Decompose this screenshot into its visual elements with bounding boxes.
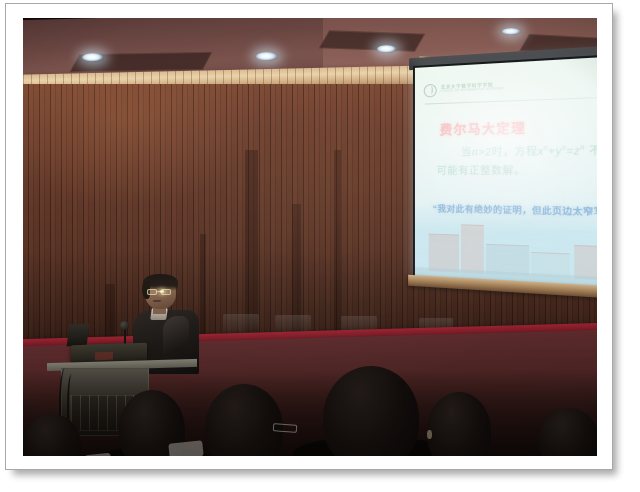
audience-highlight bbox=[427, 430, 432, 439]
eq-prefix: 当 bbox=[461, 147, 472, 158]
glasses-lens-left bbox=[147, 289, 157, 295]
audience-chair bbox=[223, 314, 259, 334]
presenter-mouth bbox=[153, 300, 161, 302]
eq-plus: + bbox=[548, 146, 555, 158]
glasses-glint bbox=[160, 290, 164, 293]
eq-equals: = bbox=[567, 146, 574, 158]
ceiling-light-icon bbox=[502, 28, 521, 35]
laptop-label bbox=[95, 352, 113, 361]
campus-building bbox=[429, 234, 459, 273]
audience-glasses-icon bbox=[273, 423, 297, 433]
university-emblem-icon bbox=[424, 83, 437, 97]
presenter-shoulder-highlight bbox=[163, 316, 189, 360]
slide-logo-en: SCHOOL OF MATHEMATICAL SCIENCES bbox=[441, 88, 504, 94]
audience-collar bbox=[168, 440, 203, 456]
projection-screen: 北京大学数学科学学院 SCHOOL OF MATHEMATICAL SCIENC… bbox=[413, 52, 597, 291]
slide-body-line-2: 可能有正整数解。 bbox=[437, 161, 526, 177]
ceiling-light-icon bbox=[377, 45, 397, 53]
ceiling-vent bbox=[319, 30, 425, 51]
slide-equation-line: 当n>2时，方程xn+yn=zn 不 bbox=[461, 141, 597, 159]
photo-frame: 北京大学数学科学学院 SCHOOL OF MATHEMATICAL SCIENC… bbox=[5, 3, 613, 470]
slide-title: 费尔马大定理 bbox=[440, 117, 526, 139]
eq-mid: >2时，方程 bbox=[478, 146, 537, 158]
campus-building bbox=[461, 224, 484, 273]
laptop-lid bbox=[67, 324, 90, 347]
ceiling-light-icon bbox=[256, 52, 278, 61]
photograph: 北京大学数学科学学院 SCHOOL OF MATHEMATICAL SCIENC… bbox=[23, 18, 597, 456]
slide-logo: 北京大学数学科学学院 SCHOOL OF MATHEMATICAL SCIENC… bbox=[424, 80, 504, 97]
ceiling-light-icon bbox=[82, 53, 104, 62]
wall-plank bbox=[334, 150, 341, 335]
slide-surface: 北京大学数学科学学院 SCHOOL OF MATHEMATICAL SCIENC… bbox=[413, 52, 597, 291]
microphone-icon bbox=[120, 321, 129, 330]
eq-suffix: 不 bbox=[585, 146, 597, 158]
